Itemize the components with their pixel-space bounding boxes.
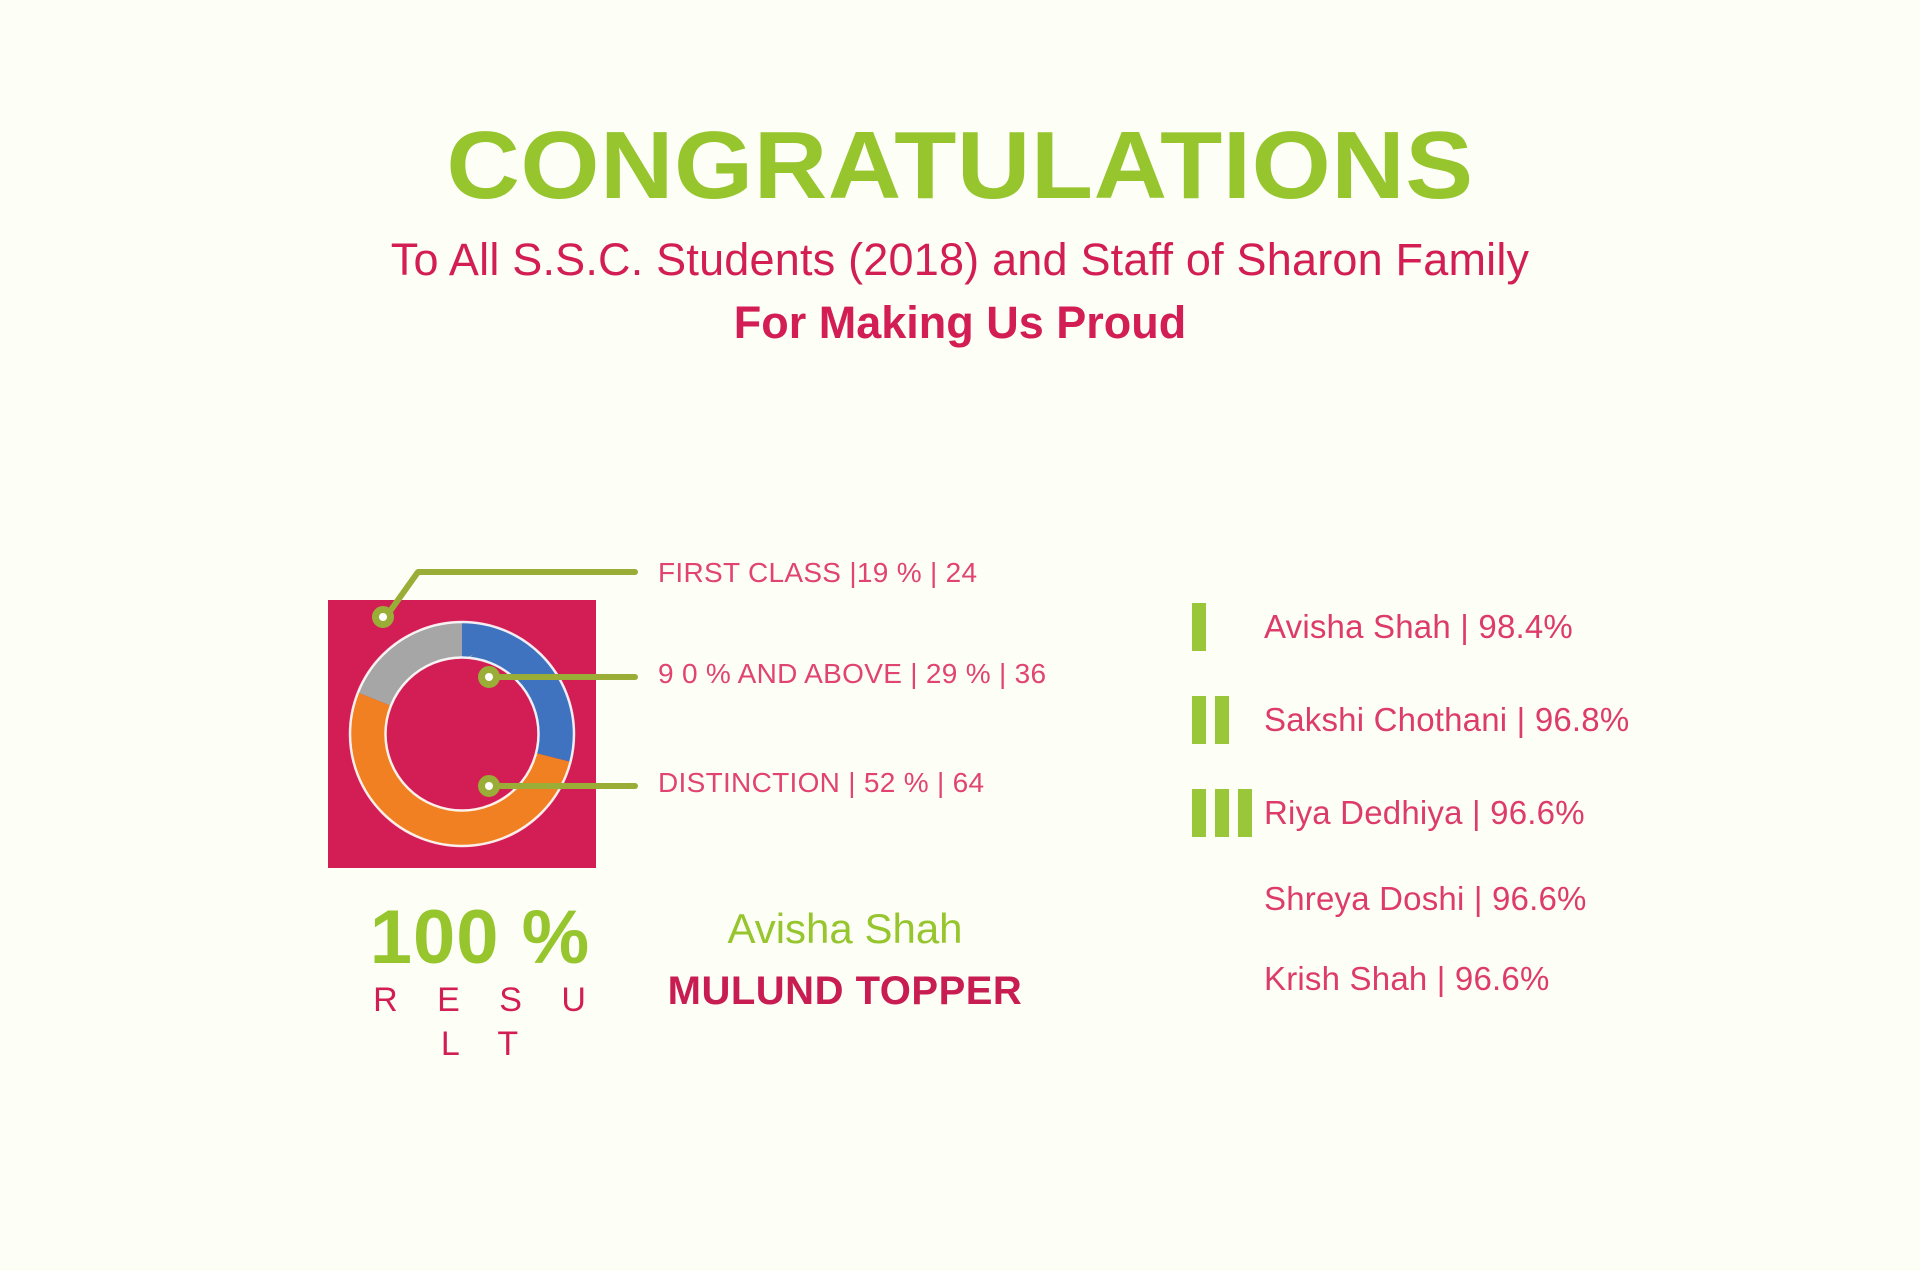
rank-row: Riya Dedhiya | 96.6% xyxy=(1192,766,1832,859)
rank-name: Sakshi Chothani | 96.8% xyxy=(1264,701,1629,739)
topper-title: MULUND TOPPER xyxy=(620,969,1070,1014)
donut-svg xyxy=(328,600,596,868)
rank-row: Sakshi Chothani | 96.8% xyxy=(1192,673,1832,766)
rank-row: Shreya Doshi | 96.6% xyxy=(1192,859,1832,939)
topper-name: Avisha Shah xyxy=(620,905,1070,953)
result-block: 100 % R E S U L T xyxy=(330,900,630,1066)
rank-name: Krish Shah | 96.6% xyxy=(1264,960,1550,998)
leader-dot-distinction xyxy=(478,775,500,797)
rank-name: Avisha Shah | 98.4% xyxy=(1264,608,1573,646)
result-label: R E S U L T xyxy=(330,978,630,1066)
rank-row: Krish Shah | 96.6% xyxy=(1192,939,1832,1019)
rank-bar xyxy=(1215,696,1229,744)
legend-label-90-and-above: 9 0 % AND ABOVE | 29 % | 36 xyxy=(658,658,1046,690)
leader-line-90-and-above xyxy=(488,674,638,680)
result-percent: 100 % xyxy=(330,900,630,976)
legend-label-first-class: FIRST CLASS |19 % | 24 xyxy=(658,557,977,589)
leader-line-distinction xyxy=(488,783,638,789)
header: CONGRATULATIONS To All S.S.C. Students (… xyxy=(0,0,1920,347)
header-subtitle: To All S.S.C. Students (2018) and Staff … xyxy=(0,236,1920,283)
rank-list: Avisha Shah | 98.4% Sakshi Chothani | 96… xyxy=(1192,580,1832,1019)
leader-dot-first-class xyxy=(372,606,394,628)
rank-name: Shreya Doshi | 96.6% xyxy=(1264,880,1587,918)
rank-bar xyxy=(1192,603,1206,651)
rank-bar xyxy=(1192,789,1206,837)
main-content: FIRST CLASS |19 % | 24 9 0 % AND ABOVE |… xyxy=(0,440,1920,1060)
rank-bar xyxy=(1238,789,1252,837)
rank-bar xyxy=(1192,696,1206,744)
leader-line-first-class xyxy=(380,532,640,622)
rank-marks-1 xyxy=(1192,603,1264,651)
mulund-topper-block: Avisha Shah MULUND TOPPER xyxy=(620,905,1070,1014)
rank-marks-2 xyxy=(1192,696,1264,744)
header-tagline: For Making Us Proud xyxy=(0,299,1920,346)
page-title: CONGRATULATIONS xyxy=(0,118,1920,214)
legend-label-distinction: DISTINCTION | 52 % | 64 xyxy=(658,767,984,799)
rank-marks-3 xyxy=(1192,789,1264,837)
rank-bar xyxy=(1215,789,1229,837)
leader-dot-90-and-above xyxy=(478,666,500,688)
donut-chart xyxy=(328,600,596,868)
rank-row: Avisha Shah | 98.4% xyxy=(1192,580,1832,673)
rank-name: Riya Dedhiya | 96.6% xyxy=(1264,794,1585,832)
